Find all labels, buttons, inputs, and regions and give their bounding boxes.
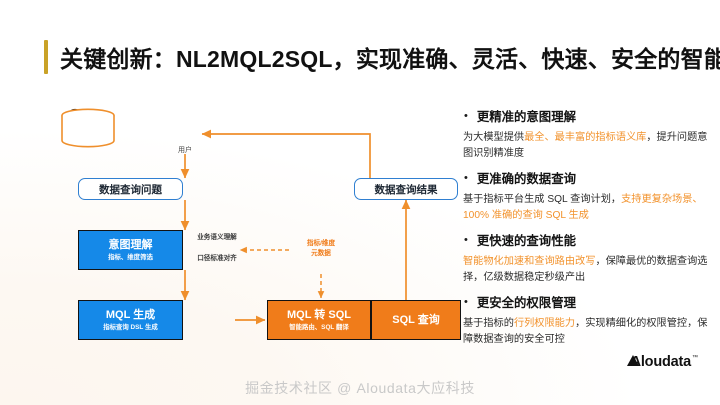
user-label: 用户 [165,145,205,155]
logo-text: Aloudata [631,354,691,370]
metadata-store-icon [60,108,116,148]
benefit-title: 更快速的查询性能 [477,234,576,249]
bullet-dot-icon: • [462,172,468,185]
benefit-title: 更精准的意图理解 [477,110,576,125]
page-title-text: 关键创新：NL2MQL2SQL，实现准确、灵活、快速、安全的智能分析 [60,40,720,74]
node-subtitle: 智能路由、SQL 翻译 [289,324,349,331]
store-line-2: 元数据 [293,249,349,259]
benefit-item: •更准确的数据查询基于指标平台生成 SQL 查询计划，支持更复杂场景、100% … [462,172,712,224]
benefit-body: 基于指标的行列权限能力，实现精细化的权限管控，保障数据查询的安全可控 [463,316,712,348]
bullet-dot-icon: • [462,110,468,123]
benefit-title: 更准确的数据查询 [477,172,576,187]
node-data-query-result: 数据查询结果 [354,178,458,200]
node-subtitle: 指标查询 DSL 生成 [103,324,158,331]
flow-diagram: 用户 数据查询问题 数据查询结果 意图理解 指标、维度筛选 业务语义理解 口径标… [60,108,440,348]
node-title: 意图理解 [109,239,153,251]
node-mql-generation: MQL 生成 指标查询 DSL 生成 [78,300,183,340]
node-mql-to-sql: MQL 转 SQL 智能路由、SQL 翻译 [267,300,371,340]
title-accent-bar [44,40,48,74]
watermark: 掘金技术社区 @ Aloudata大应科技 [0,378,720,398]
node-data-query-question: 数据查询问题 [78,178,183,200]
benefit-heading: •更准确的数据查询 [462,172,712,187]
benefit-item: •更快速的查询性能智能物化加速和查询路由改写，保障最优的数据查询选择，亿级数据稳… [462,234,712,286]
metadata-store-label: 指标/维度 元数据 [293,239,349,259]
benefit-body: 基于指标平台生成 SQL 查询计划，支持更复杂场景、100% 准确的查询 SQL… [463,192,712,224]
node-title: SQL 查询 [392,314,439,326]
body-text: 基于指标的 [463,318,514,329]
benefit-title: 更安全的权限管理 [477,296,576,311]
node-title: MQL 生成 [106,309,155,321]
body-text: 为大模型提供 [463,132,524,143]
benefit-heading: •更安全的权限管理 [462,296,712,311]
node-intent-understanding: 意图理解 指标、维度筛选 [78,230,183,270]
highlighted-text: 最全、最丰富的指标语义库 [524,132,646,143]
benefit-heading: •更精准的意图理解 [462,110,712,125]
aloudata-logo: Aloudata ™ [627,354,698,370]
benefit-heading: •更快速的查询性能 [462,234,712,249]
benefit-body: 智能物化加速和查询路由改写，保障最优的数据查询选择，亿级数据稳定秒级产出 [463,254,712,286]
highlighted-text: 智能物化加速和查询路由改写 [463,256,595,267]
edge-label-semantic: 业务语义理解 [180,234,254,243]
body-text: 基于指标平台生成 SQL 查询计划， [463,194,621,205]
node-sql-query: SQL 查询 [371,300,461,340]
slide-canvas: 关键创新：NL2MQL2SQL，实现准确、灵活、快速、安全的智能分析 [0,0,720,405]
benefits-panel: •更精准的意图理解为大模型提供最全、最丰富的指标语义库，提升问题意图识别精准度•… [462,110,712,358]
node-label: 数据查询结果 [375,182,438,197]
page-title: 关键创新：NL2MQL2SQL，实现准确、灵活、快速、安全的智能分析 [44,40,720,74]
benefit-item: •更精准的意图理解为大模型提供最全、最丰富的指标语义库，提升问题意图识别精准度 [462,110,712,162]
node-subtitle: 指标、维度筛选 [108,254,153,261]
trademark-symbol: ™ [692,355,698,361]
benefit-item: •更安全的权限管理基于指标的行列权限能力，实现精细化的权限管控，保障数据查询的安… [462,296,712,348]
node-title: MQL 转 SQL [287,309,351,321]
store-line-1: 指标/维度 [293,239,349,249]
bullet-dot-icon: • [462,296,468,309]
edge-label-caliber: 口径标准对齐 [180,255,254,264]
benefit-body: 为大模型提供最全、最丰富的指标语义库，提升问题意图识别精准度 [463,130,712,162]
node-label: 数据查询问题 [99,182,162,197]
highlighted-text: 行列权限能力 [514,318,575,329]
bullet-dot-icon: • [462,234,468,247]
